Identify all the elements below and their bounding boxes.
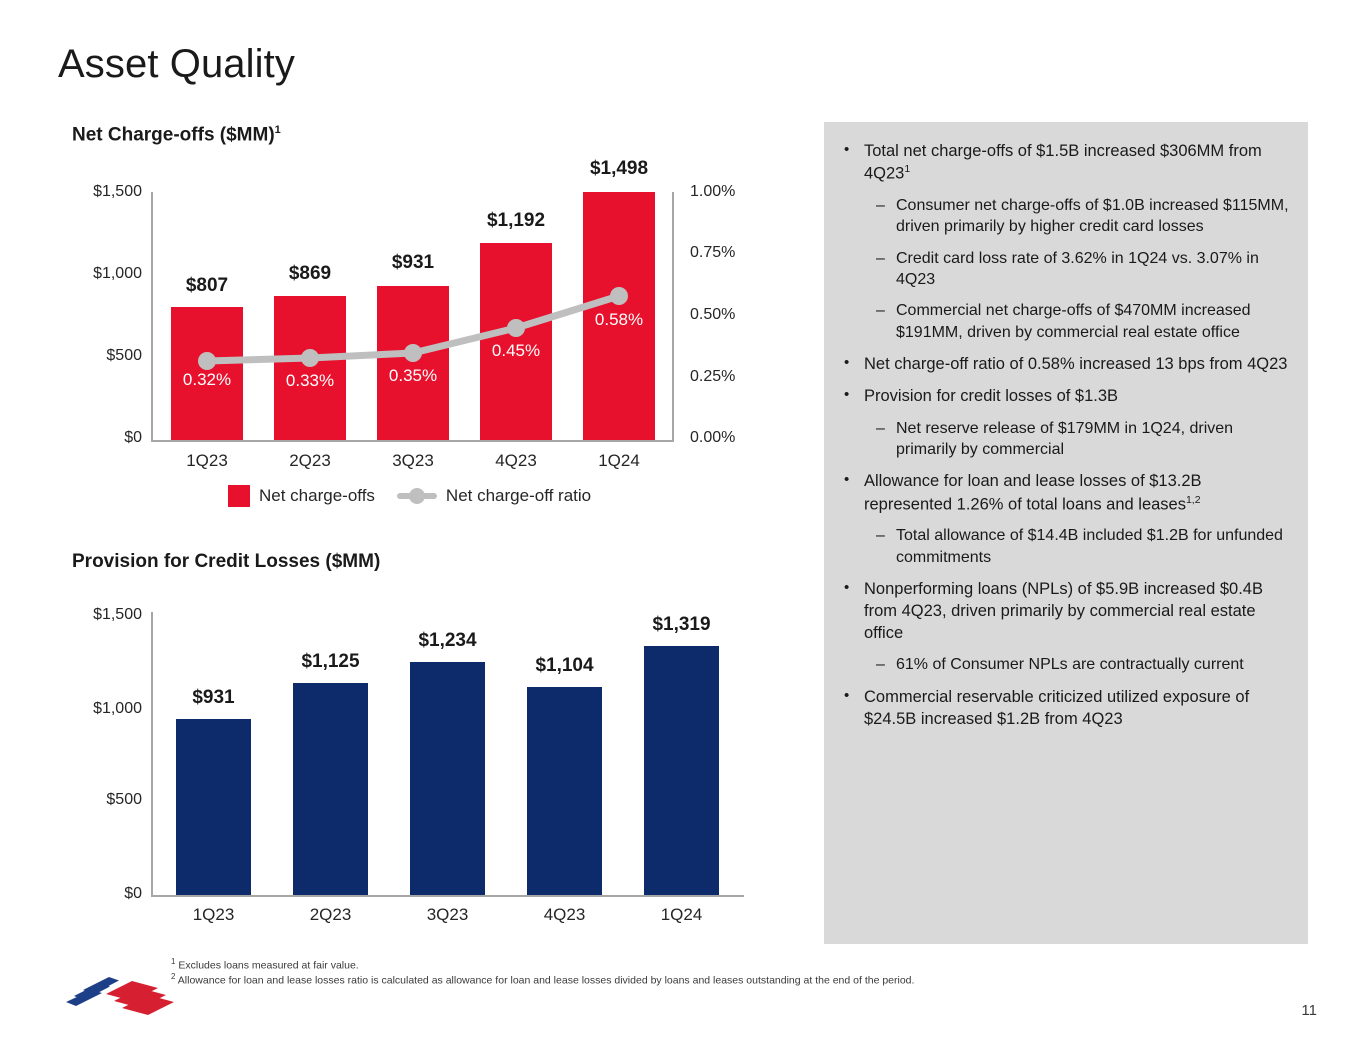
- footnote-2-text: Allowance for loan and lease losses rati…: [178, 975, 915, 987]
- footnote-2: 2 Allowance for loan and lease losses ra…: [171, 972, 914, 987]
- footnote-1-text: Excludes loans measured at fair value.: [178, 960, 358, 972]
- chart1-cat-1Q24: 1Q24: [563, 451, 675, 471]
- chart2-x-axis-line: [151, 895, 744, 897]
- commentary-bullet: • Total net charge-offs of $1.5B increas…: [836, 140, 1290, 185]
- chart-title-provision: Provision for Credit Losses ($MM): [72, 551, 380, 573]
- commentary-subbullet: – Consumer net charge-offs of $1.0B incr…: [836, 195, 1290, 238]
- bullet-marker-icon: •: [844, 353, 864, 373]
- bullet-superscript: 1,2: [1186, 494, 1201, 506]
- chart2-cat-1Q23: 1Q23: [157, 905, 270, 925]
- chart2-cat-2Q23: 2Q23: [274, 905, 387, 925]
- bullet-text: Net charge-off ratio of 0.58% increased …: [864, 353, 1290, 375]
- chart2-y-axis-line: [151, 612, 153, 896]
- legend-label-net-charge-offs: Net charge-offs: [259, 486, 375, 506]
- chart1-legend: Net charge-offs Net charge-off ratio: [228, 485, 591, 507]
- chart1-cat-1Q23: 1Q23: [151, 451, 263, 471]
- commentary-subbullet: – Total allowance of $14.4B included $1.…: [836, 525, 1290, 568]
- bullet-text-body: Total net charge-offs of $1.5B increased…: [864, 142, 1262, 183]
- bar-provision-1Q24: [644, 646, 719, 895]
- bullet-marker-icon: •: [844, 470, 864, 490]
- ratio-marker-4Q23: [507, 319, 525, 337]
- chart1-cat-2Q23: 2Q23: [254, 451, 366, 471]
- bullet-text: Commercial reservable criticized utilize…: [864, 686, 1290, 730]
- subbullet-text: Credit card loss rate of 3.62% in 1Q24 v…: [896, 248, 1290, 291]
- commentary-subbullet: – 61% of Consumer NPLs are contractually…: [836, 654, 1290, 675]
- commentary-bullet: • Commercial reservable criticized utili…: [836, 686, 1290, 730]
- ratio-label-4Q23: 0.45%: [460, 341, 572, 361]
- commentary-panel: • Total net charge-offs of $1.5B increas…: [824, 122, 1308, 944]
- page-number: 11: [1301, 1002, 1317, 1019]
- bullet-text: Total net charge-offs of $1.5B increased…: [864, 140, 1290, 185]
- bar-provision-4Q23: [527, 687, 602, 895]
- legend-line-marker-icon: [397, 493, 437, 499]
- bar-provision-2Q23: [293, 683, 368, 895]
- footnote-1: 1 Excludes loans measured at fair value.: [171, 957, 359, 972]
- commentary-subbullet: – Net reserve release of $179MM in 1Q24,…: [836, 418, 1290, 461]
- chart2-cat-4Q23: 4Q23: [508, 905, 621, 925]
- chart1-cat-3Q23: 3Q23: [357, 451, 469, 471]
- chart2-ytick-1000: $1,000: [58, 700, 142, 718]
- ratio-label-1Q24: 0.58%: [563, 310, 675, 330]
- commentary-subbullet: – Commercial net charge-offs of $470MM i…: [836, 300, 1290, 343]
- subbullet-text: Commercial net charge-offs of $470MM inc…: [896, 300, 1290, 343]
- ratio-marker-3Q23: [404, 344, 422, 362]
- subbullet-text: Total allowance of $14.4B included $1.2B…: [896, 525, 1290, 568]
- bullet-text: Nonperforming loans (NPLs) of $5.9B incr…: [864, 578, 1290, 644]
- ratio-marker-1Q23: [198, 352, 216, 370]
- chart2-ytick-500: $500: [58, 791, 142, 809]
- bar-label-provision-1Q24: $1,319: [625, 614, 738, 636]
- bullet-superscript: 1: [904, 163, 910, 175]
- logo-red-stripes: [106, 981, 174, 1015]
- slide-canvas: Asset Quality Net Charge-offs ($MM)1 $1,…: [0, 0, 1365, 1055]
- subbullet-marker-icon: –: [876, 248, 896, 269]
- bar-label-provision-2Q23: $1,125: [274, 651, 387, 673]
- chart2-ytick-0: $0: [58, 885, 142, 903]
- ratio-label-3Q23: 0.35%: [357, 366, 469, 386]
- footnote-1-number: 1: [171, 957, 175, 966]
- subbullet-text: Consumer net charge-offs of $1.0B increa…: [896, 195, 1290, 238]
- subbullet-marker-icon: –: [876, 418, 896, 439]
- bullet-text-body: Allowance for loan and lease losses of $…: [864, 472, 1202, 513]
- bullet-marker-icon: •: [844, 385, 864, 405]
- chart2-ytick-1500: $1,500: [58, 606, 142, 624]
- commentary-bullet: • Nonperforming loans (NPLs) of $5.9B in…: [836, 578, 1290, 644]
- bar-label-provision-3Q23: $1,234: [391, 630, 504, 652]
- legend-label-net-charge-off-ratio: Net charge-off ratio: [446, 486, 591, 506]
- subbullet-text: 61% of Consumer NPLs are contractually c…: [896, 654, 1290, 675]
- subbullet-text: Net reserve release of $179MM in 1Q24, d…: [896, 418, 1290, 461]
- commentary-bullet: • Allowance for loan and lease losses of…: [836, 470, 1290, 515]
- ratio-marker-2Q23: [301, 349, 319, 367]
- bullet-marker-icon: •: [844, 578, 864, 598]
- chart2-cat-1Q24: 1Q24: [625, 905, 738, 925]
- bar-provision-3Q23: [410, 662, 485, 895]
- bar-provision-1Q23: [176, 719, 251, 895]
- ratio-label-2Q23: 0.33%: [254, 371, 366, 391]
- ratio-label-1Q23: 0.32%: [151, 370, 263, 390]
- bullet-marker-icon: •: [844, 140, 864, 160]
- subbullet-marker-icon: –: [876, 300, 896, 321]
- legend-item-net-charge-offs[interactable]: Net charge-offs: [228, 485, 375, 507]
- subbullet-marker-icon: –: [876, 195, 896, 216]
- chart1-cat-4Q23: 4Q23: [460, 451, 572, 471]
- bullet-marker-icon: •: [844, 686, 864, 706]
- subbullet-marker-icon: –: [876, 525, 896, 546]
- bar-label-provision-1Q23: $931: [157, 687, 270, 709]
- chart2-title-text: Provision for Credit Losses ($MM): [72, 551, 380, 572]
- ratio-marker-1Q24: [610, 287, 628, 305]
- bar-label-provision-4Q23: $1,104: [508, 655, 621, 677]
- legend-item-net-charge-off-ratio[interactable]: Net charge-off ratio: [397, 486, 591, 506]
- subbullet-marker-icon: –: [876, 654, 896, 675]
- bank-of-america-flagscape-logo: [62, 972, 180, 1024]
- bullet-text: Allowance for loan and lease losses of $…: [864, 470, 1290, 515]
- bullet-text: Provision for credit losses of $1.3B: [864, 385, 1290, 407]
- chart2-cat-3Q23: 3Q23: [391, 905, 504, 925]
- commentary-bullet: • Net charge-off ratio of 0.58% increase…: [836, 353, 1290, 375]
- commentary-bullet: • Provision for credit losses of $1.3B: [836, 385, 1290, 407]
- legend-swatch-icon: [228, 485, 250, 507]
- commentary-subbullet: – Credit card loss rate of 3.62% in 1Q24…: [836, 248, 1290, 291]
